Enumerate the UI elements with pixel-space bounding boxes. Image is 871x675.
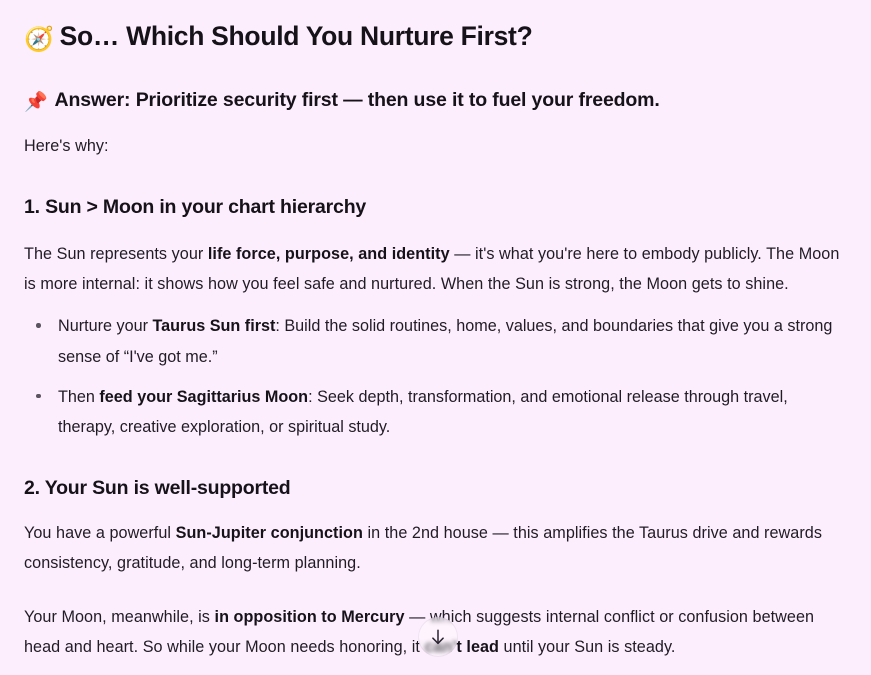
bullet-2-part-1: Then bbox=[58, 388, 99, 406]
nurture-bullet-list: Nurture your Taurus Sun first: Build the… bbox=[24, 311, 849, 442]
bullet-2-bold: feed your Sagittarius Moon bbox=[99, 388, 308, 406]
bullet-1-part-1: Nurture your bbox=[58, 317, 152, 335]
section-1-heading: 1. Sun > Moon in your chart hierarchy bbox=[24, 195, 849, 220]
chat-response-pane: 🧭So… Which Should You Nurture First? 📌An… bbox=[0, 0, 871, 675]
moon-part-1: Your Moon, meanwhile, is bbox=[24, 608, 215, 626]
compass-icon: 🧭 bbox=[24, 24, 54, 54]
jupiter-part-1: You have a powerful bbox=[24, 524, 176, 542]
list-item: Then feed your Sagittarius Moon: Seek de… bbox=[24, 382, 849, 442]
section-2-heading: 2. Your Sun is well-supported bbox=[24, 476, 849, 501]
list-item: Nurture your Taurus Sun first: Build the… bbox=[24, 311, 849, 371]
answer-line: 📌Answer: Prioritize security first — the… bbox=[24, 88, 849, 115]
sun-text-part-1: The Sun represents your bbox=[24, 245, 208, 263]
jupiter-bold: Sun-Jupiter conjunction bbox=[176, 524, 363, 542]
moon-part-3: until your Sun is steady. bbox=[499, 638, 675, 656]
page-title: 🧭So… Which Should You Nurture First? bbox=[24, 20, 849, 54]
bullet-dot-icon bbox=[36, 394, 41, 399]
scroll-to-bottom-button[interactable] bbox=[418, 617, 458, 657]
bullet-dot-icon bbox=[36, 323, 41, 328]
bullet-1-bold: Taurus Sun first bbox=[152, 317, 275, 335]
pushpin-icon: 📌 bbox=[24, 90, 48, 115]
arrow-down-icon bbox=[428, 627, 448, 647]
sun-bold-1: life force, purpose, and identity bbox=[208, 245, 450, 263]
page-title-text: So… Which Should You Nurture First? bbox=[60, 21, 533, 51]
answer-label: Answer: bbox=[55, 89, 131, 111]
answer-statement: Prioritize security first — then use it … bbox=[136, 89, 660, 111]
intro-text: Here's why: bbox=[24, 131, 849, 161]
section-2-paragraph-1: You have a powerful Sun-Jupiter conjunct… bbox=[24, 518, 844, 578]
section-1-paragraph: The Sun represents your life force, purp… bbox=[24, 239, 849, 299]
moon-bold-1: in opposition to Mercury bbox=[215, 608, 405, 626]
